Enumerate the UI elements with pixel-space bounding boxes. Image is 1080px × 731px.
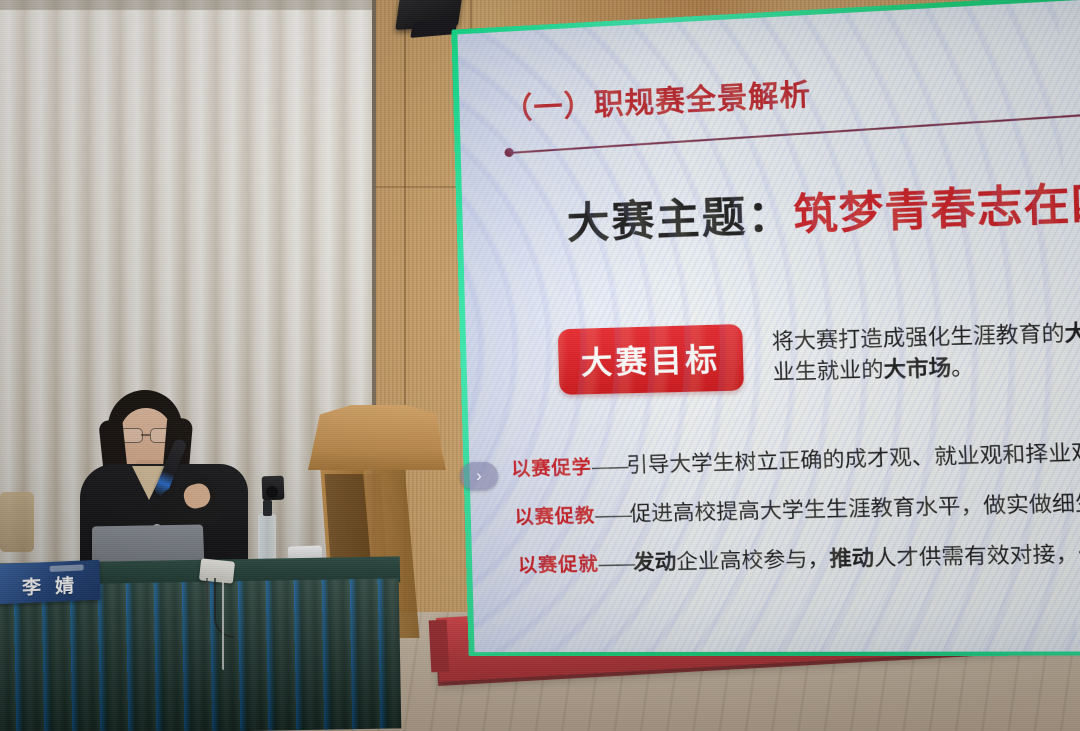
- goal-line1-pre: 将大赛打造成强化生涯教育的: [772, 322, 1065, 354]
- curtain-rod: [0, 0, 372, 10]
- slide-theme-label: 大赛主题：: [566, 191, 794, 248]
- camera-lens-icon: [266, 486, 278, 498]
- slide-theme-value: 筑梦青春志在四方: [793, 176, 1080, 239]
- glasses-bridge: [141, 434, 150, 436]
- screenshot-root: （一）职规赛全景解析 大赛主题：筑梦青春志在四方 大赛目标 将大赛打造成强化生涯…: [0, 0, 1080, 731]
- bullet-text-tail: 人才供需有效对接，促: [874, 542, 1080, 570]
- stage-riser-side: [429, 620, 450, 673]
- goal-description: 将大赛打造成强化生涯教育的大课 业生就业的大市场。: [771, 315, 1080, 389]
- led-display-surface: （一）职规赛全景解析 大赛主题：筑梦青春志在四方 大赛目标 将大赛打造成强化生涯…: [457, 0, 1080, 652]
- slide-section-heading: （一）职规赛全景解析: [503, 71, 812, 129]
- bottle-cap: [263, 500, 272, 516]
- cable: [206, 578, 208, 618]
- bullet-text: 引导大学生树立正确的成才观、就业观和择业观: [626, 436, 1080, 480]
- nameplate-char-given: 婧: [55, 575, 89, 597]
- slide-bullet-list: 以赛促学——引导大学生树立正确的成才观、就业观和择业观 以赛促教——促进高校提高…: [511, 437, 1080, 594]
- bullet-keyword: 以赛促就: [517, 549, 599, 578]
- slide-theme-line: 大赛主题：筑梦青春志在四方: [566, 165, 1080, 251]
- lectern-top: [312, 404, 442, 452]
- goal-line2-post: 。: [951, 356, 974, 381]
- water-bottle-icon: [258, 500, 276, 566]
- goal-line2-bold: 大市场: [883, 356, 951, 382]
- goal-line1-bold: 大课: [1064, 321, 1080, 347]
- nameplate-char-surname: 李: [22, 576, 56, 598]
- bullet-dash: ——: [595, 505, 630, 528]
- goal-badge: 大赛目标: [558, 324, 744, 395]
- nameplate-text: 李婧: [8, 570, 89, 600]
- bullet-text-bold2: 推动: [829, 547, 874, 572]
- bullet-dash: ——: [591, 456, 626, 479]
- presenter-nameplate: 李婧: [0, 560, 100, 605]
- cable: [222, 580, 224, 670]
- next-slide-chevron-icon[interactable]: ›: [460, 462, 498, 490]
- goal-line2-pre: 业生就业的: [772, 358, 884, 384]
- bullet-text-post: 企业高校参与，: [676, 548, 830, 575]
- bullet-keyword: 以赛促学: [511, 452, 593, 481]
- bullet-dash: ——: [598, 554, 633, 577]
- led-display: （一）职规赛全景解析 大赛主题：筑梦青春志在四方 大赛目标 将大赛打造成强化生涯…: [457, 0, 1080, 652]
- cable: [214, 578, 234, 638]
- chair-back: [0, 492, 34, 552]
- bullet-keyword: 以赛促教: [514, 501, 596, 530]
- bullet-text-bold: 发动: [633, 551, 677, 575]
- presentation-slide: （一）职规赛全景解析 大赛主题：筑梦青春志在四方 大赛目标 将大赛打造成强化生涯…: [457, 0, 1080, 652]
